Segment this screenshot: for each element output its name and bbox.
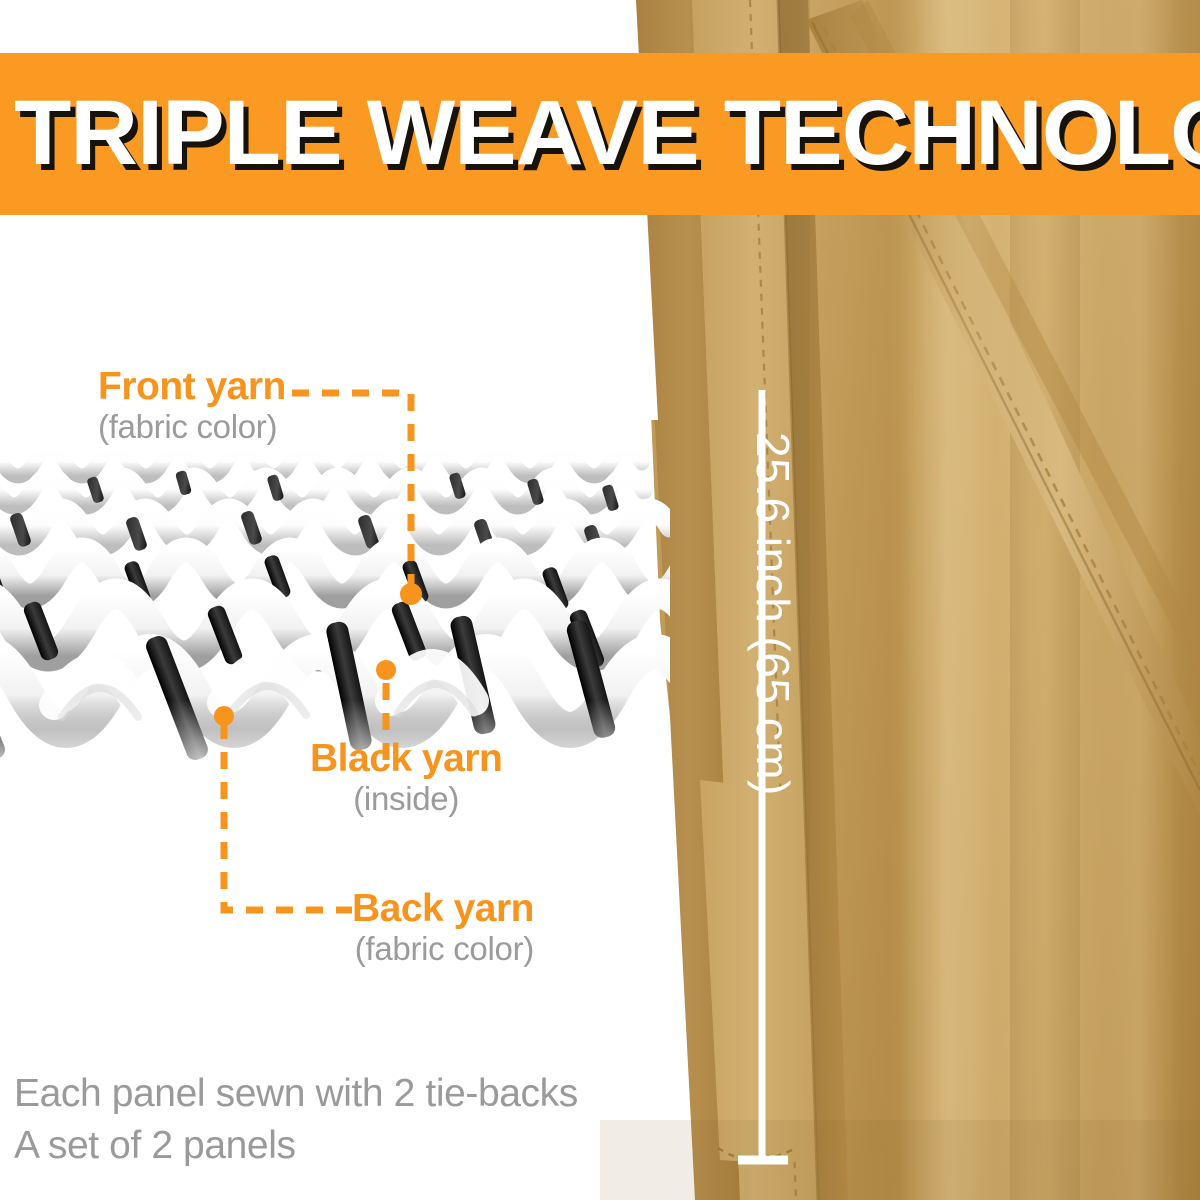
page-title: TRIPLE WEAVE TECHNOLOGY bbox=[14, 71, 1200, 195]
leader-anchor-dots bbox=[214, 583, 422, 726]
footnote-panels: A set of 2 panels bbox=[14, 1120, 578, 1172]
dimension-label: 25.6 inch (65 cm) bbox=[746, 432, 800, 796]
banner: TRIPLE WEAVE TECHNOLOGY bbox=[0, 53, 1200, 215]
footnote-tiebacks: Each panel sewn with 2 tie-backs bbox=[14, 1068, 578, 1120]
infographic-canvas: TRIPLE WEAVE TECHNOLOGY Front yarn (fabr… bbox=[0, 0, 1200, 1200]
footnotes: Each panel sewn with 2 tie-backs A set o… bbox=[14, 1068, 578, 1172]
